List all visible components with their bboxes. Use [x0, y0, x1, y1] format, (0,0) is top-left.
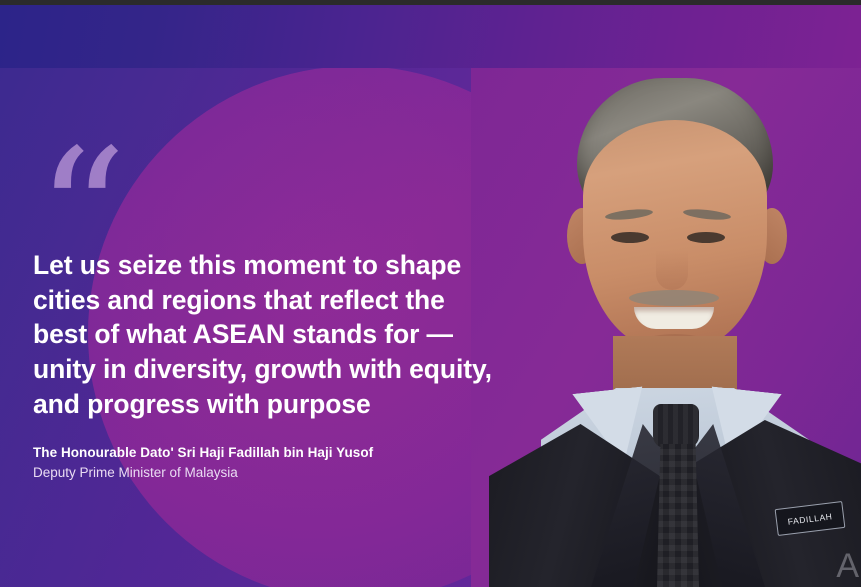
watermark-letter: A	[836, 549, 859, 583]
name-badge-label: FADILLAH	[787, 511, 833, 526]
portrait-tie	[657, 444, 699, 587]
top-dark-strip	[0, 0, 861, 5]
portrait-nose	[656, 250, 688, 290]
portrait-eye-left	[611, 232, 649, 243]
quote-slide: FADILLAH A “ Let us seize this moment to…	[0, 0, 861, 587]
portrait-eye-right	[687, 232, 725, 243]
portrait-moustache	[629, 290, 719, 306]
portrait-photo: FADILLAH A	[471, 68, 861, 587]
attribution-name: The Honourable Dato' Sri Haji Fadillah b…	[33, 443, 493, 463]
quote-text: Let us seize this moment to shape cities…	[33, 248, 493, 422]
attribution-role: Deputy Prime Minister of Malaysia	[33, 463, 493, 483]
portrait-tie-knot	[653, 404, 699, 448]
portrait-mouth	[634, 307, 714, 329]
quote-content: “ Let us seize this moment to shape citi…	[0, 68, 520, 587]
attribution: The Honourable Dato' Sri Haji Fadillah b…	[33, 443, 493, 484]
banner-gradient-band	[0, 5, 861, 68]
